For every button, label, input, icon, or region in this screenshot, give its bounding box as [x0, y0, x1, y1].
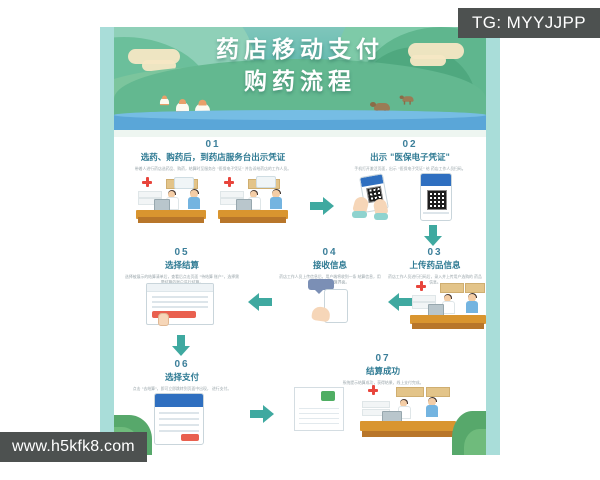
- poster-title-line2: 购药流程: [114, 67, 486, 97]
- step-01-number: 01: [122, 139, 304, 151]
- step-07-illustration-counter: [360, 383, 456, 437]
- step-01-description: 带着人进行药店选药品、购药，结算时至服务台 "医保电子凭证" 并告诉给药店的工作…: [129, 166, 296, 172]
- receipt-card: [294, 387, 344, 431]
- arrow-05-to-06: [172, 335, 190, 357]
- customer-figure: [270, 190, 282, 209]
- customer-figure: [188, 190, 200, 209]
- medicine-box: [220, 191, 244, 198]
- sleeve-cuff: [352, 211, 367, 218]
- receipt-line: [299, 418, 339, 419]
- arrow-head: [323, 197, 334, 215]
- medicine-box: [138, 191, 162, 198]
- shirt-shape: [426, 405, 438, 417]
- step-02-illustration-qr-card: [416, 173, 456, 223]
- step-02-description: 手机打开激活页面，出示 "医保电子凭证" 给 药店工作人员扫码。: [346, 166, 475, 172]
- step-04-illustration: [308, 279, 360, 327]
- step-07-number: 07: [290, 353, 476, 365]
- arrow-shaft: [310, 202, 324, 210]
- card-line: [423, 212, 448, 214]
- step-01-title: 选药、购药后，到药店服务台出示凭证: [122, 152, 304, 164]
- step-07-illustration-receipt: [294, 387, 346, 437]
- counter-front: [362, 431, 454, 437]
- screen-line: [152, 306, 207, 308]
- step-03-title: 上传药品信息: [384, 260, 486, 272]
- payment-header-bar: [155, 394, 203, 407]
- flow-row-3: 06 选择支付 点击 "去结算"，即可立即跳转到页面中出现， 进行支付。: [114, 343, 486, 455]
- step-01-illustration-a: [136, 177, 206, 223]
- step-02-illustration-hand-phone: [352, 175, 404, 223]
- counter-front: [220, 217, 286, 223]
- counter-top: [360, 421, 456, 431]
- receipt-line: [299, 413, 339, 414]
- arrow-04-to-05: [246, 293, 272, 311]
- step-01-illustration-b: [218, 177, 288, 223]
- screen-line: [159, 430, 199, 432]
- screen-line: [159, 418, 199, 420]
- counter-front: [138, 217, 204, 223]
- telegram-tag-badge: TG: MYYJJPP: [458, 8, 600, 38]
- step-01: 01 选药、购药后，到药店服务台出示凭证 带着人进行药店选药品、购药，结算时至服…: [122, 139, 304, 172]
- customer-figure: [466, 294, 478, 313]
- arrow-shaft: [250, 410, 264, 418]
- shelf-box: [396, 387, 424, 397]
- river-foam-shape: [114, 130, 486, 137]
- poster-header-banner: 药店移动支付 购药流程: [114, 27, 486, 137]
- step-07-title: 结算成功: [290, 366, 476, 378]
- red-cross-icon: [224, 177, 234, 187]
- customer-figure: [426, 398, 438, 417]
- poster-right-border: [486, 27, 500, 455]
- arrow-06-to-07: [250, 405, 276, 423]
- shirt-shape: [188, 197, 200, 209]
- red-cross-icon: [416, 281, 426, 291]
- poster-title: 药店移动支付 购药流程: [114, 35, 486, 97]
- step-07: 07 结算成功 系统提示结算成功，获得结果，线上支付完成。: [290, 353, 476, 386]
- arrow-03-to-04: [386, 293, 412, 311]
- website-watermark-badge: www.h5kfk8.com: [0, 432, 147, 462]
- shelf-box: [465, 283, 485, 293]
- step-06: 06 选择支付 点击 "去结算"，即可立即跳转到页面中出现， 进行支付。: [120, 359, 244, 392]
- medicine-box: [412, 295, 436, 302]
- receipt-line: [299, 423, 339, 424]
- pay-button[interactable]: [181, 434, 199, 441]
- arrow-head: [388, 293, 399, 311]
- red-cross-icon: [368, 385, 378, 395]
- settlement-screen: [146, 283, 214, 325]
- step-06-title: 选择支付: [120, 372, 244, 384]
- arrow-01-to-02: [310, 197, 336, 215]
- tap-finger-icon: [158, 313, 169, 326]
- flowchart-poster: 药店移动支付 购药流程 01 选药、购药后，到药店服务台出示凭证 带着人进行药店…: [100, 27, 500, 455]
- step-05-title: 选择结算: [120, 260, 244, 272]
- grazing-animal-icon: [402, 96, 413, 102]
- step-03-illustration: [410, 281, 486, 329]
- step-06-description: 点击 "去结算"，即可立即跳转到页面中出现， 进行支付。: [125, 386, 239, 392]
- arrow-head: [172, 346, 190, 356]
- poster-inner: 药店移动支付 购药流程 01 选药、购药后，到药店服务台出示凭证 带着人进行药店…: [114, 27, 486, 455]
- qr-code: [427, 190, 447, 210]
- step-05: 05 选择结算 选择被展示的结算清单后，查看后点击页面 "待结算 账户"，选择需…: [120, 247, 244, 286]
- arrow-head: [248, 293, 259, 311]
- step-03-number: 03: [384, 247, 486, 259]
- poster-body: 01 选药、购药后，到药店服务台出示凭证 带着人进行药店选药品、购药，结算时至服…: [114, 137, 486, 455]
- arrow-shaft: [258, 298, 272, 306]
- step-03: 03 上传药品信息 药店工作人员进行扫码后，录入并上传用户选购的 药品信息。: [360, 247, 486, 286]
- step-02: 02 出示 "医保电子凭证" 手机打开激活页面，出示 "医保电子凭证" 给 药店…: [340, 139, 480, 172]
- payment-screen: [154, 393, 204, 445]
- arrow-head: [263, 405, 274, 423]
- screen-line: [159, 424, 199, 426]
- shelf-box: [440, 283, 464, 293]
- step-06-illustration: [154, 393, 210, 445]
- shelf-box: [426, 387, 450, 397]
- qr-sign-board: [256, 176, 276, 188]
- step-05-number: 05: [120, 247, 244, 259]
- yurt-icon: [160, 98, 169, 106]
- step-02-title: 出示 "医保电子凭证": [340, 152, 480, 164]
- poster-title-line1: 药店移动支付: [114, 35, 486, 65]
- step-05-illustration: [146, 283, 218, 327]
- counter-front: [412, 323, 484, 329]
- red-cross-icon: [142, 177, 152, 187]
- screen-titlebar: [147, 284, 213, 292]
- shirt-shape: [270, 197, 282, 209]
- screen-line: [159, 412, 199, 414]
- poster-left-border: [100, 27, 114, 455]
- screen-line: [152, 296, 207, 298]
- flow-row-1: 01 选药、购药后，到药店服务台出示凭证 带着人进行药店选药品、购药，结算时至服…: [114, 137, 486, 243]
- screen-line: [152, 301, 207, 303]
- success-check-icon: [321, 391, 335, 401]
- flow-row-2: 05 选择结算 选择被展示的结算清单后，查看后点击页面 "待结算 账户"，选择需…: [114, 243, 486, 343]
- qr-credential-card: [420, 173, 452, 221]
- medicine-box: [362, 401, 390, 408]
- sleeve-cuff: [374, 213, 388, 220]
- card-header-bar: [421, 174, 451, 186]
- receipt-line: [299, 408, 339, 409]
- sign-board: [174, 177, 194, 189]
- step-02-number: 02: [340, 139, 480, 151]
- shirt-shape: [466, 301, 478, 313]
- step-06-number: 06: [120, 359, 244, 371]
